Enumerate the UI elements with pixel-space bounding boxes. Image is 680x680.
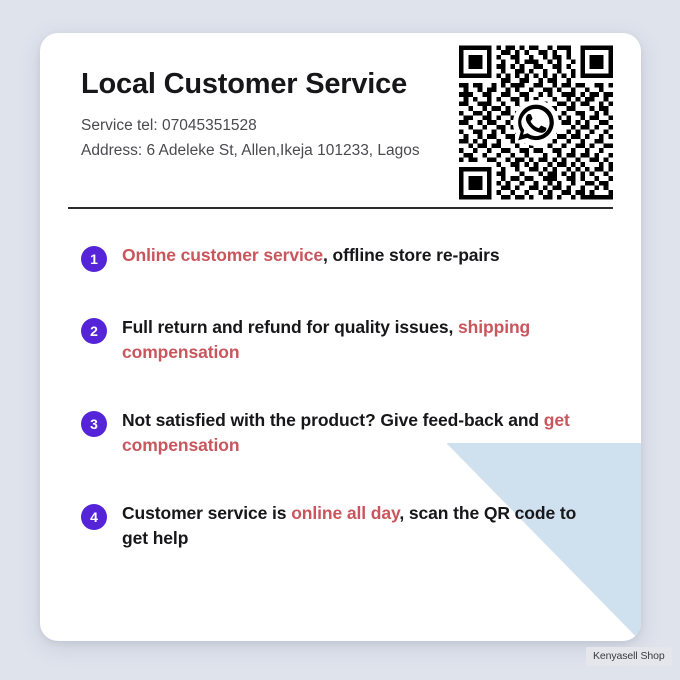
plain-text: Not satisfied with the product? Give fee… [122, 410, 544, 430]
list-item-text: Full return and refund for quality issue… [122, 315, 591, 365]
service-points-list: 1 Online customer service, offline store… [81, 243, 591, 551]
page-title: Local Customer Service [81, 69, 461, 101]
list-item-text: Online customer service, offline store r… [122, 243, 500, 268]
highlight-text: Online customer service [122, 245, 323, 265]
address-text: Address: 6 Adeleke St, Allen,Ikeja 10123… [81, 138, 461, 163]
whatsapp-glyph [513, 44, 559, 201]
list-item-badge: 3 [81, 411, 107, 437]
service-tel-text: Service tel: 07045351528 [81, 113, 461, 138]
list-item-badge: 2 [81, 318, 107, 344]
list-item: 4 Customer service is online all day, sc… [81, 501, 591, 551]
screenshot-root: Local Customer Service Service tel: 0704… [0, 0, 680, 680]
watermark-badge: Kenyasell Shop [586, 647, 672, 666]
card-header: Local Customer Service Service tel: 0704… [81, 69, 461, 163]
list-item: 1 Online customer service, offline store… [81, 243, 591, 272]
list-item-text: Customer service is online all day, scan… [122, 501, 591, 551]
list-item-text: Not satisfied with the product? Give fee… [122, 408, 591, 458]
list-item: 3 Not satisfied with the product? Give f… [81, 408, 591, 458]
plain-text: , offline store re-pairs [323, 245, 500, 265]
plain-text: Customer service is [122, 503, 291, 523]
list-item-badge: 1 [81, 246, 107, 272]
service-card: Local Customer Service Service tel: 0704… [40, 33, 641, 641]
whatsapp-icon [513, 100, 559, 146]
highlight-text: online all day [291, 503, 399, 523]
qr-code[interactable] [459, 44, 613, 201]
list-item-badge: 4 [81, 504, 107, 530]
header-divider [68, 207, 613, 209]
card-content: Local Customer Service Service tel: 0704… [40, 33, 641, 641]
plain-text: Full return and refund for quality issue… [122, 317, 458, 337]
list-item: 2 Full return and refund for quality iss… [81, 315, 591, 365]
